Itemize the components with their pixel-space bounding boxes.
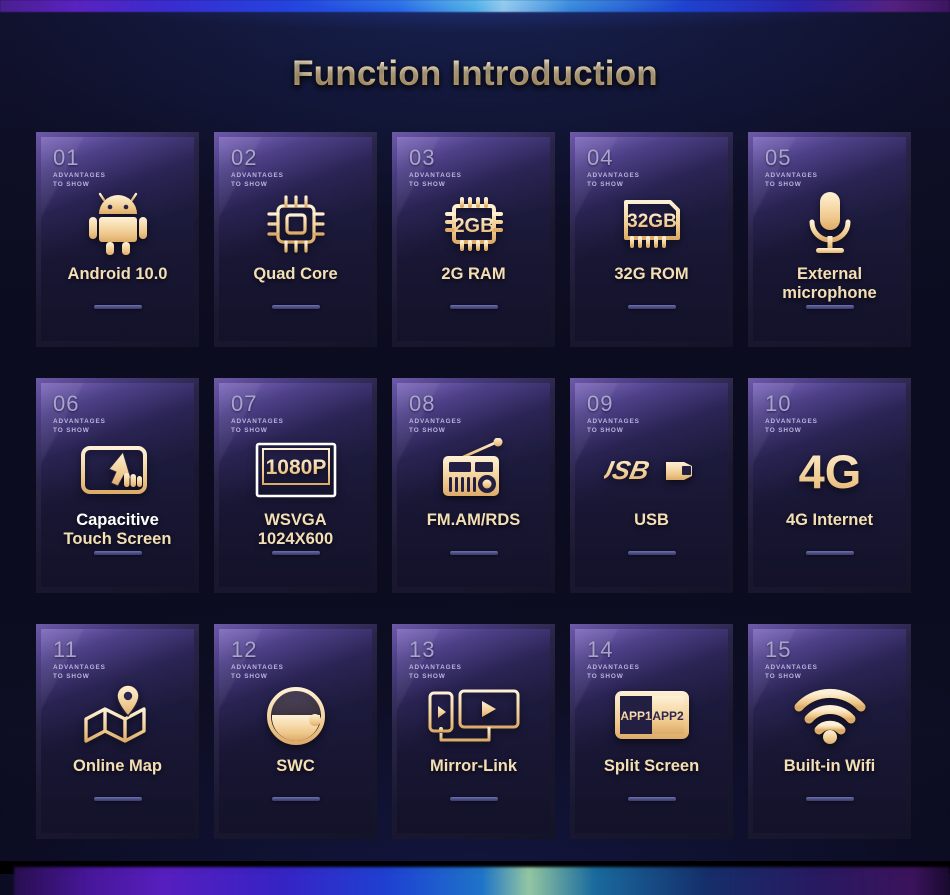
card-number: 06 — [53, 391, 79, 417]
card-icon-slot: 1080P — [219, 431, 372, 509]
card-divider — [628, 305, 676, 309]
card-label: Mirror-Link — [401, 757, 546, 776]
feature-card-resolution[interactable]: 07 ADVANTAGES TO SHOW 1080P — [214, 378, 377, 593]
card-subtitle-line1: ADVANTAGES — [587, 417, 667, 426]
card-label-line1: WSVGA — [264, 511, 326, 529]
split-screen-icon: APP1 APP2 — [613, 689, 691, 743]
card-divider — [806, 551, 854, 555]
card-icon-slot — [397, 431, 550, 509]
card-label-line1: SWC — [276, 757, 315, 775]
feature-card-rom[interactable]: 04 ADVANTAGES TO SHOW 32GB 32G ROM — [570, 132, 733, 347]
top-glow — [0, 0, 950, 42]
card-label-line1: Capacitive — [76, 511, 159, 529]
card-divider — [450, 551, 498, 555]
card-icon-slot: USB — [575, 431, 728, 509]
card-inner: 07 ADVANTAGES TO SHOW 1080P — [219, 383, 372, 587]
card-subtitle-line1: ADVANTAGES — [409, 663, 489, 672]
card-subtitle-line1: ADVANTAGES — [53, 663, 133, 672]
function-introduction-page: Function Introduction 01 ADVANTAGES TO S… — [0, 0, 950, 895]
card-inner: 06 ADVANTAGES TO SHOW — [41, 383, 194, 587]
card-label-line1: Online Map — [73, 757, 162, 775]
card-number: 12 — [231, 637, 257, 663]
card-label: Android 10.0 — [45, 265, 190, 284]
cpu-chip-icon — [264, 192, 328, 256]
card-divider — [450, 797, 498, 801]
card-label: USB — [579, 511, 724, 530]
card-label: FM.AM/RDS — [401, 511, 546, 530]
feature-card-split-screen[interactable]: 14 ADVANTAGES TO SHOW APP1 APP2 Split Sc — [570, 624, 733, 839]
card-label: 32G ROM — [579, 265, 724, 284]
card-label: WSVGA 1024X600 — [223, 511, 368, 549]
card-inner: 09 ADVANTAGES TO SHOW USB USB — [575, 383, 728, 587]
monitor-icon: 1080P — [254, 441, 338, 499]
card-number: 10 — [765, 391, 791, 417]
bottom-band-mask — [0, 861, 950, 874]
wifi-icon — [793, 688, 867, 744]
card-inner: 10 ADVANTAGES TO SHOW 4G 4G Internet — [753, 383, 906, 587]
card-label-line1: FM.AM/RDS — [427, 511, 521, 529]
card-divider — [94, 305, 142, 309]
card-label-line2: Touch Screen — [45, 530, 190, 549]
card-icon-slot: 4G — [753, 431, 906, 509]
card-inner: 04 ADVANTAGES TO SHOW 32GB 32G ROM — [575, 137, 728, 341]
card-subtitle-line1: ADVANTAGES — [765, 663, 845, 672]
bottom-neon-band — [14, 867, 950, 895]
card-label-line2: microphone — [757, 284, 902, 303]
card-label-line1: USB — [634, 511, 669, 529]
card-number: 07 — [231, 391, 257, 417]
card-divider — [806, 797, 854, 801]
card-icon-slot — [41, 185, 194, 263]
card-inner: 15 ADVANTAGES TO SHOW — [753, 629, 906, 833]
card-inner: 03 ADVANTAGES TO SHOW 2GB — [397, 137, 550, 341]
usb-icon: USB — [604, 449, 700, 491]
card-label-line1: External — [797, 265, 862, 283]
card-label: Split Screen — [579, 757, 724, 776]
card-inner: 12 ADVANTAGES TO SHOW SWC — [219, 629, 372, 833]
radio-icon — [439, 438, 509, 502]
feature-card-swc[interactable]: 12 ADVANTAGES TO SHOW SWC — [214, 624, 377, 839]
ram-icon-text: 2GB — [453, 215, 494, 237]
card-divider — [450, 305, 498, 309]
card-number: 14 — [587, 637, 613, 663]
card-divider — [94, 551, 142, 555]
card-inner: 05 ADVANTAGES TO SHOW External microphon… — [753, 137, 906, 341]
card-subtitle-line1: ADVANTAGES — [587, 171, 667, 180]
card-number: 09 — [587, 391, 613, 417]
feature-card-wifi[interactable]: 15 ADVANTAGES TO SHOW — [748, 624, 911, 839]
card-label-line1: Android 10.0 — [68, 265, 168, 283]
card-divider — [94, 797, 142, 801]
card-label: Capacitive Touch Screen — [45, 511, 190, 549]
android-icon — [87, 192, 149, 256]
card-label-line1: Built-in Wifi — [784, 757, 876, 775]
card-number: 05 — [765, 145, 791, 171]
feature-card-quad-core[interactable]: 02 ADVANTAGES TO SHOW — [214, 132, 377, 347]
card-divider — [272, 797, 320, 801]
card-label: Quad Core — [223, 265, 368, 284]
ram-chip-icon: 2GB — [440, 192, 508, 256]
card-inner: 02 ADVANTAGES TO SHOW — [219, 137, 372, 341]
card-divider — [806, 305, 854, 309]
card-subtitle-line1: ADVANTAGES — [409, 417, 489, 426]
card-label-line1: 2G RAM — [441, 265, 505, 283]
card-subtitle-line1: ADVANTAGES — [409, 171, 489, 180]
feature-card-ram[interactable]: 03 ADVANTAGES TO SHOW 2GB — [392, 132, 555, 347]
resolution-icon-text: 1080P — [265, 456, 326, 479]
usb-icon-text: USB — [604, 455, 652, 485]
feature-card-microphone[interactable]: 05 ADVANTAGES TO SHOW External microphon… — [748, 132, 911, 347]
card-icon-slot: APP1 APP2 — [575, 677, 728, 755]
card-subtitle-line1: ADVANTAGES — [765, 171, 845, 180]
card-icon-slot — [753, 185, 906, 263]
microphone-icon — [804, 190, 856, 258]
4g-text-icon: 4G — [793, 441, 867, 499]
page-title: Function Introduction — [292, 54, 658, 94]
card-inner: 11 ADVANTAGES TO SHOW — [41, 629, 194, 833]
card-icon-slot — [219, 185, 372, 263]
card-number: 01 — [53, 145, 79, 171]
card-label-line1: Split Screen — [604, 757, 699, 775]
card-label: Online Map — [45, 757, 190, 776]
card-number: 15 — [765, 637, 791, 663]
card-number: 13 — [409, 637, 435, 663]
card-icon-slot: 2GB — [397, 185, 550, 263]
card-label: Built-in Wifi — [757, 757, 902, 776]
card-inner: 08 ADVANTAGES TO SHOW — [397, 383, 550, 587]
card-label-line1: Mirror-Link — [430, 757, 517, 775]
page-title-wrap: Function Introduction — [0, 54, 950, 94]
card-icon-slot: 32GB — [575, 185, 728, 263]
card-icon-slot — [753, 677, 906, 755]
card-inner: 01 ADVANTAGES TO SHOW — [41, 137, 194, 341]
split-screen-app2-text: APP2 — [652, 709, 684, 723]
feature-card-usb[interactable]: 09 ADVANTAGES TO SHOW USB USB — [570, 378, 733, 593]
card-number: 11 — [53, 637, 78, 663]
split-screen-app1-text: APP1 — [620, 709, 652, 723]
sd-card-icon: 32GB — [618, 194, 686, 254]
map-pin-icon — [81, 683, 155, 749]
rom-icon-text: 32GB — [627, 211, 677, 232]
card-label-line1: Quad Core — [253, 265, 337, 283]
card-number: 03 — [409, 145, 435, 171]
card-number: 08 — [409, 391, 435, 417]
feature-card-online-map[interactable]: 11 ADVANTAGES TO SHOW — [36, 624, 199, 839]
card-subtitle-line1: ADVANTAGES — [587, 663, 667, 672]
card-subtitle-line1: ADVANTAGES — [231, 663, 311, 672]
card-inner: 13 ADVANTAGES TO SHOW Mir — [397, 629, 550, 833]
card-label: 4G Internet — [757, 511, 902, 530]
card-subtitle-line1: ADVANTAGES — [231, 417, 311, 426]
card-icon-slot — [219, 677, 372, 755]
feature-card-grid: 01 ADVANTAGES TO SHOW — [36, 132, 915, 839]
card-label-line1: 4G Internet — [786, 511, 873, 529]
card-divider — [628, 551, 676, 555]
feature-card-android[interactable]: 01 ADVANTAGES TO SHOW — [36, 132, 199, 347]
feature-card-4g[interactable]: 10 ADVANTAGES TO SHOW 4G 4G Internet — [748, 378, 911, 593]
touch-screen-icon — [79, 442, 157, 498]
card-subtitle-line1: ADVANTAGES — [53, 417, 133, 426]
card-label: 2G RAM — [401, 265, 546, 284]
top-neon-band — [0, 0, 950, 12]
bottom-neon-band-wrap — [0, 861, 950, 895]
card-divider — [272, 305, 320, 309]
card-divider — [628, 797, 676, 801]
feature-card-touch-screen[interactable]: 06 ADVANTAGES TO SHOW — [36, 378, 199, 593]
mirror-link-icon — [426, 685, 522, 747]
card-label: External microphone — [757, 265, 902, 303]
feature-card-radio[interactable]: 08 ADVANTAGES TO SHOW — [392, 378, 555, 593]
card-label-line2: 1024X600 — [223, 530, 368, 549]
card-divider — [272, 551, 320, 555]
4g-icon-text: 4G — [798, 445, 861, 498]
card-number: 02 — [231, 145, 257, 171]
card-label: SWC — [223, 757, 368, 776]
card-icon-slot — [397, 677, 550, 755]
card-number: 04 — [587, 145, 613, 171]
card-label-line1: 32G ROM — [614, 265, 688, 283]
card-icon-slot — [41, 677, 194, 755]
card-subtitle-line1: ADVANTAGES — [53, 171, 133, 180]
card-subtitle-line1: ADVANTAGES — [765, 417, 845, 426]
steering-wheel-icon — [264, 685, 328, 747]
card-icon-slot — [41, 431, 194, 509]
card-inner: 14 ADVANTAGES TO SHOW APP1 APP2 Split Sc — [575, 629, 728, 833]
card-subtitle-line1: ADVANTAGES — [231, 171, 311, 180]
feature-card-mirror-link[interactable]: 13 ADVANTAGES TO SHOW Mir — [392, 624, 555, 839]
